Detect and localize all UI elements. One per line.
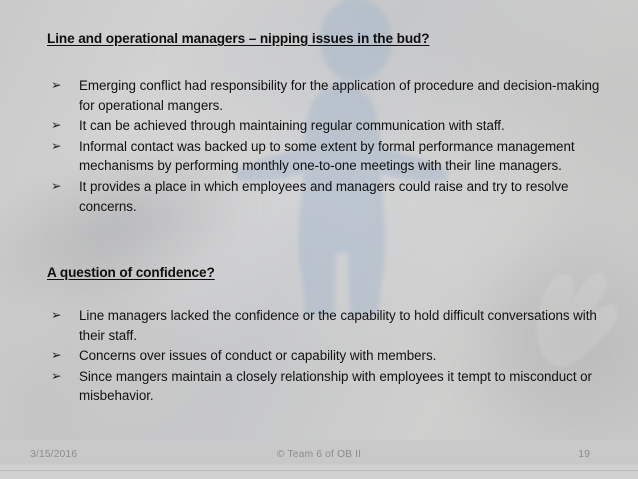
arrow-bullet-icon: ➢: [51, 76, 61, 96]
footer-page-number: 19: [0, 449, 634, 460]
heading-secondary: A question of confidence?: [47, 265, 215, 280]
list-item: ➢ It can be achieved through maintaining…: [47, 116, 612, 136]
list-item-text: It provides a place in which employees a…: [79, 177, 612, 216]
slide-footer: 3/15/2016 © Team 6 of OB II 19: [0, 440, 638, 479]
list-item: ➢ Since mangers maintain a closely relat…: [47, 367, 612, 406]
slide-content: Line and operational managers – nipping …: [0, 0, 638, 440]
list-item: ➢ Informal contact was backed up to some…: [47, 137, 612, 176]
list-item-text: Informal contact was backed up to some e…: [79, 137, 612, 176]
arrow-bullet-icon: ➢: [51, 116, 61, 136]
list-item-text: It can be achieved through maintaining r…: [79, 116, 612, 136]
list-item: ➢ Concerns over issues of conduct or cap…: [47, 346, 612, 366]
footer-page-number-value: 19: [578, 449, 634, 460]
presentation-slide: Line and operational managers – nipping …: [0, 0, 638, 479]
list-item: ➢ It provides a place in which employees…: [47, 177, 612, 216]
arrow-bullet-icon: ➢: [51, 137, 61, 157]
bullet-list-secondary: ➢ Line managers lacked the confidence or…: [47, 306, 612, 407]
list-item-text: Concerns over issues of conduct or capab…: [79, 346, 612, 366]
arrow-bullet-icon: ➢: [51, 346, 61, 366]
arrow-bullet-icon: ➢: [51, 367, 61, 387]
list-item-text: Line managers lacked the confidence or t…: [79, 306, 612, 345]
arrow-bullet-icon: ➢: [51, 177, 61, 197]
list-item: ➢ Line managers lacked the confidence or…: [47, 306, 612, 345]
list-item-text: Since mangers maintain a closely relatio…: [79, 367, 612, 406]
list-item: ➢ Emerging conflict had responsibility f…: [47, 76, 612, 115]
bullet-list-primary: ➢ Emerging conflict had responsibility f…: [47, 76, 612, 217]
list-item-text: Emerging conflict had responsibility for…: [79, 76, 612, 115]
arrow-bullet-icon: ➢: [51, 306, 61, 326]
heading-primary: Line and operational managers – nipping …: [47, 31, 429, 46]
footer-divider: [0, 470, 638, 471]
